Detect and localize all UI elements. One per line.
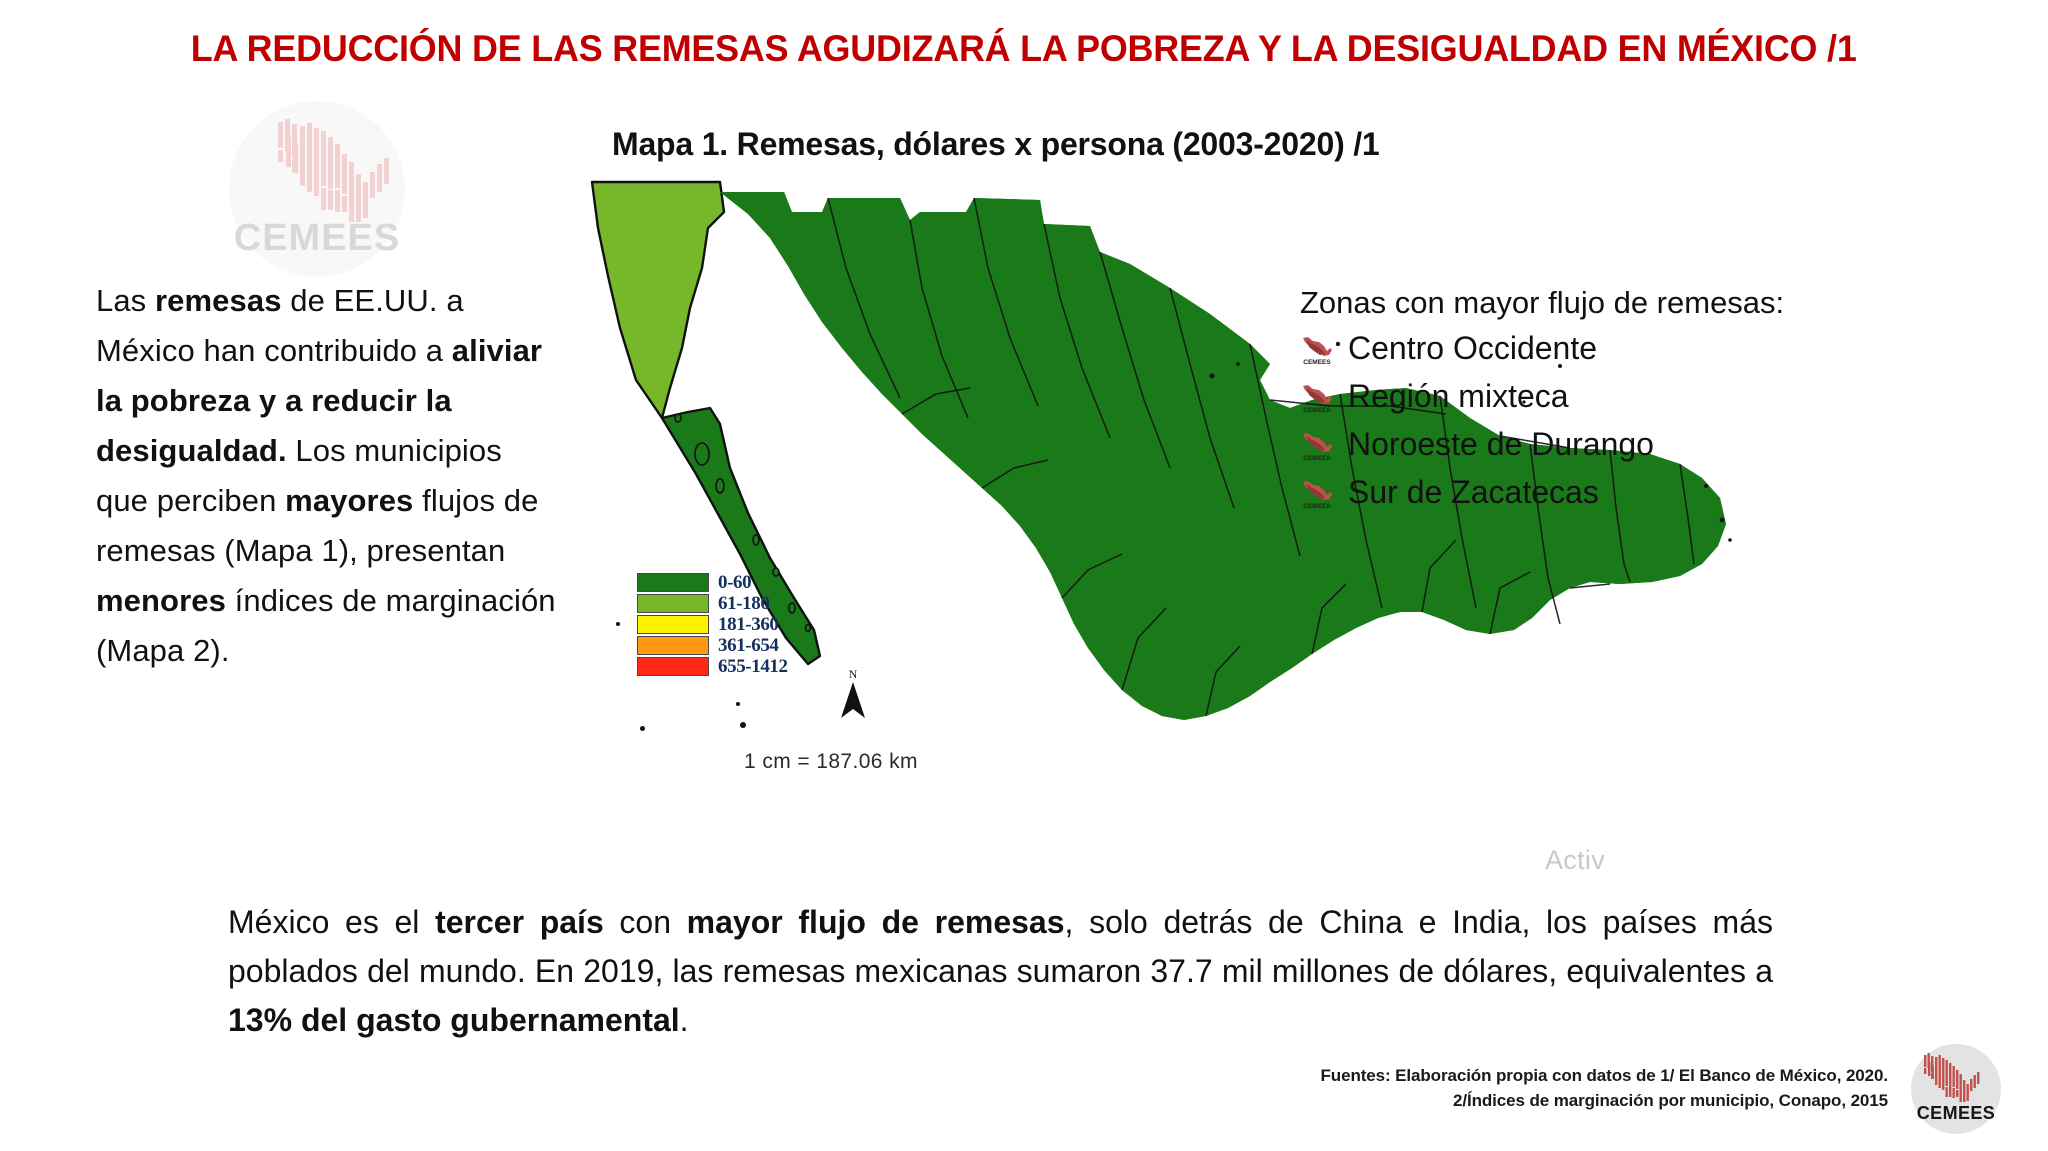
emphasis-text: 13% del gasto gubernamental bbox=[228, 1002, 680, 1038]
intro-paragraph: Las remesas de EE.UU. a México han contr… bbox=[96, 276, 556, 676]
svg-text:CEMEES: CEMEES bbox=[1303, 503, 1331, 509]
page-title-text: LA REDUCCIÓN DE LAS REMESAS AGUDIZARÁ LA… bbox=[191, 28, 1857, 70]
svg-text:CEMEES: CEMEES bbox=[1917, 1103, 1995, 1123]
body-text: . bbox=[680, 1002, 689, 1038]
legend-row: 361-654 bbox=[637, 635, 788, 656]
map-scale-label: 1 cm = 187.06 km bbox=[744, 750, 918, 774]
north-arrow: N bbox=[838, 668, 868, 728]
emphasis-text: mayor flujo de remesas bbox=[687, 904, 1065, 940]
map-artifact-dot bbox=[740, 722, 746, 728]
emphasis-text: tercer país bbox=[435, 904, 604, 940]
legend-swatch-0-60 bbox=[637, 573, 709, 592]
cemees-logo-bullet-icon: CEMEES bbox=[1300, 431, 1334, 461]
list-item: CEMEES Región mixteca bbox=[1300, 373, 1920, 419]
intro-paragraph-text: Las remesas de EE.UU. a México han contr… bbox=[96, 283, 556, 668]
zone-label: Noroeste de Durango bbox=[1348, 427, 1654, 461]
list-item: CEMEES Sur de Zacatecas bbox=[1300, 469, 1920, 515]
svg-text:CEMEES: CEMEES bbox=[1303, 455, 1331, 461]
svg-text:CEMEES: CEMEES bbox=[1303, 407, 1331, 413]
sources-line-2: 2/Índices de marginación por municipio, … bbox=[1128, 1088, 1888, 1113]
zones-list: Zonas con mayor flujo de remesas: CEMEES… bbox=[1300, 283, 1920, 515]
map-title: Mapa 1. Remesas, dólares x persona (2003… bbox=[612, 126, 1380, 163]
body-text: Las bbox=[96, 283, 155, 318]
cemees-logo-watermark: CEMEES bbox=[222, 100, 412, 278]
north-arrow-label: N bbox=[838, 668, 868, 680]
legend-label-361-654: 361-654 bbox=[718, 636, 779, 655]
legend-row: 655-1412 bbox=[637, 656, 788, 677]
zone-label: Región mixteca bbox=[1348, 379, 1569, 413]
summary-paragraph-text: México es el tercer país con mayor flujo… bbox=[228, 904, 1773, 1038]
zone-label: Centro Occidente bbox=[1348, 331, 1597, 365]
legend-swatch-181-360 bbox=[637, 615, 709, 634]
north-arrow-icon bbox=[838, 680, 868, 722]
legend-row: 0-60 bbox=[637, 572, 788, 593]
emphasis-text: mayores bbox=[285, 483, 413, 518]
body-text: con bbox=[604, 904, 687, 940]
zone-label: Sur de Zacatecas bbox=[1348, 475, 1599, 509]
legend-swatch-361-654 bbox=[637, 636, 709, 655]
zones-list-heading: Zonas con mayor flujo de remesas: bbox=[1300, 283, 1920, 323]
page-title: LA REDUCCIÓN DE LAS REMESAS AGUDIZARÁ LA… bbox=[0, 28, 2048, 70]
map-artifact-dot bbox=[616, 622, 620, 626]
summary-paragraph: México es el tercer país con mayor flujo… bbox=[228, 898, 1773, 1045]
svg-text:CEMEES: CEMEES bbox=[234, 217, 400, 259]
windows-activation-watermark: Activ bbox=[1545, 845, 1605, 876]
map-artifact-dot bbox=[640, 726, 645, 731]
sources-footnote: Fuentes: Elaboración propia con datos de… bbox=[1128, 1063, 1888, 1113]
cemees-logo-bullet-icon: CEMEES bbox=[1300, 335, 1334, 365]
legend-swatch-655-1412 bbox=[637, 657, 709, 676]
legend-row: 181-360 bbox=[637, 614, 788, 635]
legend-swatch-61-180 bbox=[637, 594, 709, 613]
legend-label-61-180: 61-180 bbox=[718, 594, 769, 613]
cemees-logo-footer: CEMEES bbox=[1910, 1043, 2002, 1135]
svg-text:CEMEES: CEMEES bbox=[1303, 359, 1331, 365]
legend-label-655-1412: 655-1412 bbox=[718, 657, 788, 676]
legend-label-0-60: 0-60 bbox=[718, 573, 751, 592]
legend-label-181-360: 181-360 bbox=[718, 615, 779, 634]
map-legend: 0-60 61-180 181-360 361-654 655-1412 bbox=[637, 572, 788, 677]
sources-line-1: Fuentes: Elaboración propia con datos de… bbox=[1128, 1063, 1888, 1088]
list-item: CEMEES Centro Occidente bbox=[1300, 325, 1920, 371]
legend-row: 61-180 bbox=[637, 593, 788, 614]
map-artifact-dot bbox=[736, 702, 740, 706]
emphasis-text: menores bbox=[96, 583, 226, 618]
cemees-logo-bullet-icon: CEMEES bbox=[1300, 479, 1334, 509]
cemees-logo-bullet-icon: CEMEES bbox=[1300, 383, 1334, 413]
body-text: México es el bbox=[228, 904, 435, 940]
list-item: CEMEES Noroeste de Durango bbox=[1300, 421, 1920, 467]
map-region-baja-california bbox=[592, 182, 724, 418]
emphasis-text: remesas bbox=[155, 283, 282, 318]
